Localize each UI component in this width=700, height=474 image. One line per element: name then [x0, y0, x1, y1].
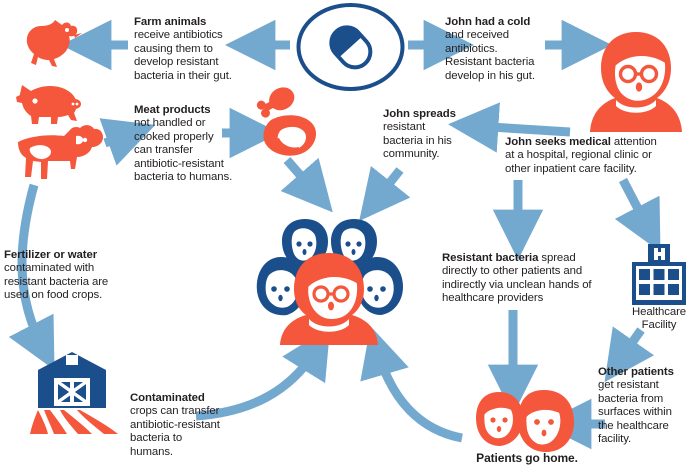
text-contaminated-bold: Contaminated: [130, 392, 205, 404]
text-resistant-l0: Resistant bacteria spread: [442, 252, 576, 264]
cow-icon: [6, 124, 110, 196]
text-other-patients: Other patients get resistant bacteria fr…: [598, 366, 698, 446]
pill-capsule-icon: [293, 2, 408, 92]
text-john-cold-l2: antibiotics.: [445, 43, 498, 55]
text-john-cold-l1: and received: [445, 29, 509, 41]
text-fertilizer-l2: resistant bacteria are: [4, 276, 108, 288]
text-john-cold-bold: John had a cold: [445, 16, 530, 28]
text-meat-products-bold: Meat products: [134, 104, 211, 116]
text-fertilizer-water: Fertilizer or water contaminated with re…: [4, 249, 136, 303]
text-resistant-l2: indirectly via unclean hands of: [442, 279, 592, 291]
text-meat-products: Meat products not handled or cooked prop…: [134, 104, 250, 184]
text-meat-products-l4: antibiotic-resistant: [134, 158, 224, 170]
text-contaminated-l2: antibiotic-resistant: [130, 419, 220, 431]
text-john-seeks-l1: at a hospital, regional clinic or: [505, 149, 652, 161]
text-contaminated-l3: bacteria to: [130, 432, 182, 444]
text-john-spreads-l2: bacteria in his: [383, 135, 452, 147]
text-meat-products-l3: can transfer: [134, 144, 193, 156]
text-contaminated-crops: Contaminated crops can transfer antibiot…: [130, 392, 250, 459]
text-john-spreads-l1: resistant: [383, 121, 425, 133]
meat-icon: [249, 86, 321, 162]
text-other-patients-l3: surfaces within: [598, 406, 672, 418]
text-fertilizer-l1: contaminated with: [4, 262, 94, 274]
text-other-patients-l2: bacteria from: [598, 393, 663, 405]
text-farm-animals-bold: Farm animals: [134, 16, 206, 28]
text-resistant-bold: Resistant bacteria: [442, 252, 538, 264]
text-resistant-l1: directly to other patients and: [442, 265, 582, 277]
community-group-icon: [255, 213, 405, 345]
text-contaminated-l1: crops can transfer: [130, 405, 219, 417]
text-john-spreads-l3: community.: [383, 148, 439, 160]
john-person-icon: [589, 30, 683, 132]
text-other-patients-l5: facility.: [598, 433, 631, 445]
infographic-canvas: Farm animals receive antibiotics causing…: [0, 0, 700, 474]
label-healthcare-facility-l2: Facility: [642, 319, 677, 331]
text-meat-products-l5: bacteria to humans.: [134, 171, 232, 183]
text-john-spreads-bold: John spreads: [383, 108, 456, 120]
text-resistant-l0-rest: spread: [538, 252, 575, 264]
text-fertilizer-bold: Fertilizer or water: [4, 249, 97, 261]
text-john-cold: John had a cold and received antibiotics…: [445, 16, 565, 83]
text-farm-animals-l1: receive antibiotics: [134, 29, 223, 41]
text-john-cold-l3: Resistant bacteria: [445, 56, 534, 68]
text-farm-animals-l2: causing them to: [134, 43, 213, 55]
text-john-seeks-l2: other inpatient care facility.: [505, 163, 637, 175]
farm-barn-icon: [24, 348, 132, 434]
label-patients-go-home-text: Patients go home.: [476, 451, 578, 465]
text-john-cold-l4: develop in his gut.: [445, 70, 535, 82]
text-farm-animals-l3: develop resistant: [134, 56, 218, 68]
label-patients-go-home: Patients go home.: [452, 452, 602, 465]
text-other-patients-bold: Other patients: [598, 366, 674, 378]
text-john-seeks-bold: John seeks medical: [505, 136, 611, 148]
text-resistant-spread: Resistant bacteria spread directly to ot…: [442, 252, 622, 306]
hospital-icon: [626, 242, 692, 306]
label-healthcare-facility-l1: Healthcare: [632, 306, 686, 318]
text-farm-animals: Farm animals receive antibiotics causing…: [134, 16, 252, 83]
chicken-icon: [18, 18, 84, 74]
text-resistant-l3: healthcare providers: [442, 292, 543, 304]
text-other-patients-l1: get resistant: [598, 379, 659, 391]
text-john-seeks-l0: John seeks medical attention: [505, 136, 657, 148]
text-john-seeks-l0-rest: attention: [611, 136, 657, 148]
text-farm-animals-l4: bacteria in their gut.: [134, 70, 232, 82]
label-healthcare-facility: Healthcare Facility: [619, 306, 699, 333]
text-contaminated-l4: humans.: [130, 446, 173, 458]
patients-pair-icon: [472, 390, 582, 452]
text-john-spreads: John spreads resistant bacteria in his c…: [383, 108, 481, 162]
text-fertilizer-l3: used on food crops.: [4, 289, 102, 301]
text-other-patients-l4: the healthcare: [598, 420, 669, 432]
text-meat-products-l2: cooked properly: [134, 131, 214, 143]
text-john-seeks-care: John seeks medical attention at a hospit…: [505, 136, 695, 176]
text-meat-products-l1: not handled or: [134, 117, 205, 129]
